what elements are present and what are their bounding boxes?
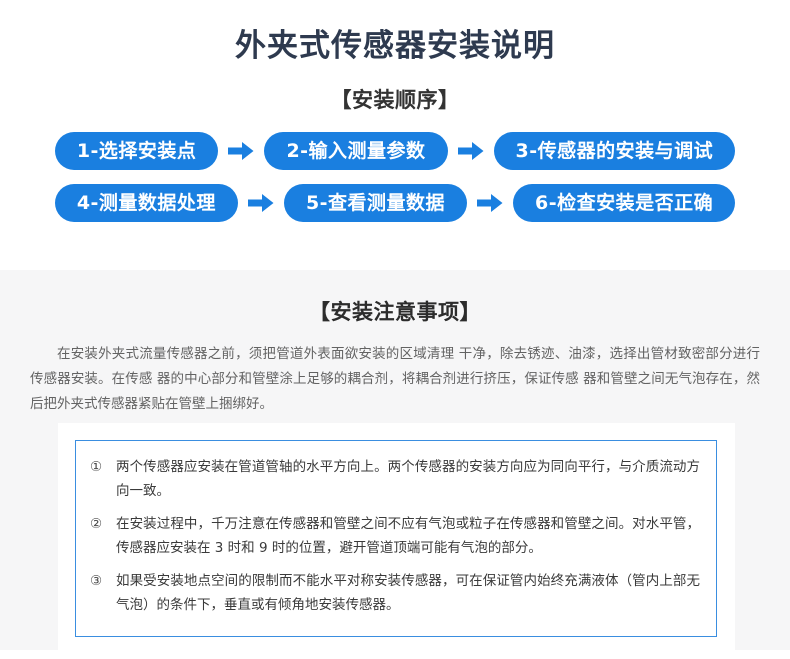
intro-paragraph: 在安装外夹式流量传感器之前，须把管道外表面欲安装的区域清理 干净，除去锈迹、油漆… — [30, 342, 760, 417]
list-marker-1: ① — [90, 455, 116, 503]
step-pill-4[interactable]: 4-测量数据处理 — [55, 184, 238, 222]
list-text-2: 在安装过程中，千万注意在传感器和管壁之间不应有气泡或粒子在传感器和管壁之间。对水… — [116, 512, 700, 560]
installation-sequence-heading: 【安装顺序】 — [0, 84, 790, 114]
list-marker-3: ③ — [90, 569, 116, 617]
list-item: ① 两个传感器应安装在管道管轴的水平方向上。两个传感器的安装方向应为同向平行，与… — [90, 455, 700, 503]
page-title: 外夹式传感器安装说明 — [0, 0, 790, 65]
step-pill-2[interactable]: 2-输入测量参数 — [264, 132, 447, 170]
arrow-right-icon — [467, 193, 513, 213]
list-marker-2: ② — [90, 512, 116, 560]
step-pill-5[interactable]: 5-查看测量数据 — [284, 184, 467, 222]
flow-row-1: 1-选择安装点 2-输入测量参数 3-传感器的安装与调试 — [0, 132, 790, 170]
list-text-3: 如果受安装地点空间的限制而不能水平对称安装传感器，可在保证管内始终充满液体（管内… — [116, 569, 700, 617]
notices-section: 【安装注意事项】 在安装外夹式流量传感器之前，须把管道外表面欲安装的区域清理 干… — [0, 270, 790, 650]
arrow-right-icon — [218, 141, 264, 161]
step-pill-1[interactable]: 1-选择安装点 — [55, 132, 219, 170]
top-section: 外夹式传感器安装说明 【安装顺序】 1-选择安装点 2-输入测量参数 3-传感器… — [0, 0, 790, 270]
step-pill-3[interactable]: 3-传感器的安装与调试 — [494, 132, 736, 170]
list-text-1: 两个传感器应安装在管道管轴的水平方向上。两个传感器的安装方向应为同向平行，与介质… — [116, 455, 700, 503]
arrow-right-icon — [238, 193, 284, 213]
installation-notices-heading: 【安装注意事项】 — [0, 296, 790, 326]
arrow-right-icon — [448, 141, 494, 161]
list-item: ③ 如果受安装地点空间的限制而不能水平对称安装传感器，可在保证管内始终充满液体（… — [90, 569, 700, 617]
step-pill-6[interactable]: 6-检查安装是否正确 — [513, 184, 735, 222]
list-item: ② 在安装过程中，千万注意在传感器和管壁之间不应有气泡或粒子在传感器和管壁之间。… — [90, 512, 700, 560]
flow-row-2: 4-测量数据处理 5-查看测量数据 6-检查安装是否正确 — [0, 184, 790, 222]
notices-blue-box: ① 两个传感器应安装在管道管轴的水平方向上。两个传感器的安装方向应为同向平行，与… — [75, 440, 717, 637]
notices-card: ① 两个传感器应安装在管道管轴的水平方向上。两个传感器的安装方向应为同向平行，与… — [58, 423, 735, 659]
